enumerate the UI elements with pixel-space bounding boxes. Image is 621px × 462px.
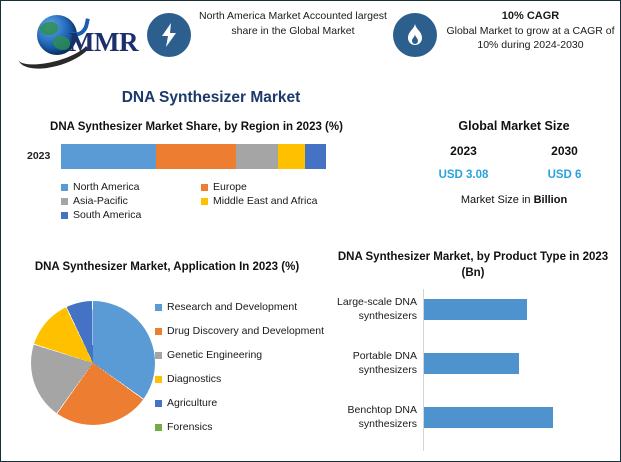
region-share-chart: DNA Synthesizer Market Share, by Region … (9, 119, 409, 221)
application-legend: Research and DevelopmentDrug Discovery a… (155, 295, 335, 439)
mmr-logo[interactable]: MMR (15, 11, 141, 67)
page-title: DNA Synthesizer Market (1, 89, 421, 107)
region-chart-plot: 2023 (9, 143, 409, 173)
region-category-label: 2023 (27, 150, 50, 162)
legend-item: North America (61, 181, 201, 193)
legend-swatch-icon (155, 424, 162, 431)
product-bar-row: Benchtop DNA synthesizers (331, 397, 619, 451)
application-share-chart: DNA Synthesizer Market, Application In 2… (7, 259, 337, 275)
market-size-year-2030: 2030 (521, 144, 609, 158)
product-chart-title: DNA Synthesizer Market, by Product Type … (331, 249, 615, 281)
region-segment (278, 144, 305, 169)
header-fact-title: 10% CAGR (443, 9, 618, 24)
legend-item: Research and Development (155, 295, 335, 319)
infographic-canvas: MMR North America Market Accounted large… (0, 0, 621, 462)
global-market-size-panel: Global Market Size 2023 2030 USD 3.08 US… (413, 119, 615, 206)
application-chart-title: DNA Synthesizer Market, Application In 2… (7, 259, 327, 275)
logo-text: MMR (69, 27, 138, 58)
region-segment (305, 144, 326, 169)
legend-swatch-icon (61, 184, 68, 191)
legend-label: Research and Development (167, 301, 297, 313)
global-market-size-title: Global Market Size (413, 119, 615, 133)
lightning-bolt-icon (147, 13, 191, 57)
legend-label: Genetic Engineering (167, 349, 262, 361)
region-segment (236, 144, 278, 169)
product-bar-label: Large-scale DNA synthesizers (331, 295, 417, 323)
product-type-chart: DNA Synthesizer Market, by Product Type … (331, 249, 619, 454)
product-bar-row: Large-scale DNA synthesizers (331, 289, 619, 343)
legend-label: Forensics (167, 421, 213, 433)
product-bar (424, 407, 553, 428)
market-size-unit-note: Market Size in Billion (413, 194, 615, 206)
global-market-size-years: 2023 2030 (413, 144, 615, 158)
product-bar (424, 353, 519, 374)
header-fact-text: Global Market to grow at a CAGR of 10% d… (443, 24, 618, 53)
region-legend: North AmericaEuropeAsia-PacificMiddle Ea… (61, 181, 351, 221)
market-size-year-2023: 2023 (420, 144, 508, 158)
legend-label: Asia-Pacific (73, 195, 128, 207)
legend-item: Agriculture (155, 391, 335, 415)
region-chart-title: DNA Synthesizer Market Share, by Region … (9, 119, 384, 135)
legend-item: Genetic Engineering (155, 343, 335, 367)
region-segment (156, 144, 236, 169)
market-size-unit: Billion (534, 194, 568, 206)
legend-item: South America (61, 209, 201, 221)
header-fact-body: 10% CAGR Global Market to grow at a CAGR… (443, 9, 618, 53)
legend-swatch-icon (155, 304, 162, 311)
legend-swatch-icon (155, 328, 162, 335)
legend-swatch-icon (155, 376, 162, 383)
legend-item: Asia-Pacific (61, 195, 201, 207)
market-size-value-2030: USD 6 (521, 169, 609, 181)
legend-item: Forensics (155, 415, 335, 439)
header-fact-text: North America Market Accounted largest s… (199, 9, 387, 38)
legend-swatch-icon (201, 198, 208, 205)
product-bar-row: Portable DNA synthesizers (331, 343, 619, 397)
legend-label: Europe (213, 181, 247, 193)
legend-item: Europe (201, 181, 351, 193)
legend-label: North America (73, 181, 140, 193)
legend-item: Drug Discovery and Development (155, 319, 335, 343)
legend-label: Agriculture (167, 397, 217, 409)
product-chart-plot: Large-scale DNA synthesizersPortable DNA… (331, 289, 619, 454)
legend-swatch-icon (155, 352, 162, 359)
legend-label: Middle East and Africa (213, 195, 317, 207)
legend-swatch-icon (61, 212, 68, 219)
legend-swatch-icon (201, 184, 208, 191)
header: MMR North America Market Accounted large… (1, 1, 621, 77)
region-segment (61, 144, 156, 169)
legend-swatch-icon (155, 400, 162, 407)
header-fact-north-america: North America Market Accounted largest s… (147, 9, 387, 71)
legend-swatch-icon (61, 198, 68, 205)
product-bar-label: Portable DNA synthesizers (331, 349, 417, 377)
product-bar (424, 299, 527, 320)
header-fact-cagr: 10% CAGR Global Market to grow at a CAGR… (393, 9, 618, 71)
product-bar-label: Benchtop DNA synthesizers (331, 403, 417, 431)
region-stacked-bar (61, 144, 326, 169)
legend-item: Middle East and Africa (201, 195, 351, 207)
flame-icon (393, 13, 437, 57)
application-pie (31, 301, 155, 425)
market-size-value-2023: USD 3.08 (420, 169, 508, 181)
legend-item: Diagnostics (155, 367, 335, 391)
legend-label: Drug Discovery and Development (167, 325, 324, 337)
legend-label: South America (73, 209, 141, 221)
market-size-unit-prefix: Market Size in (461, 194, 534, 206)
global-market-size-values: USD 3.08 USD 6 (413, 169, 615, 181)
legend-label: Diagnostics (167, 373, 221, 385)
